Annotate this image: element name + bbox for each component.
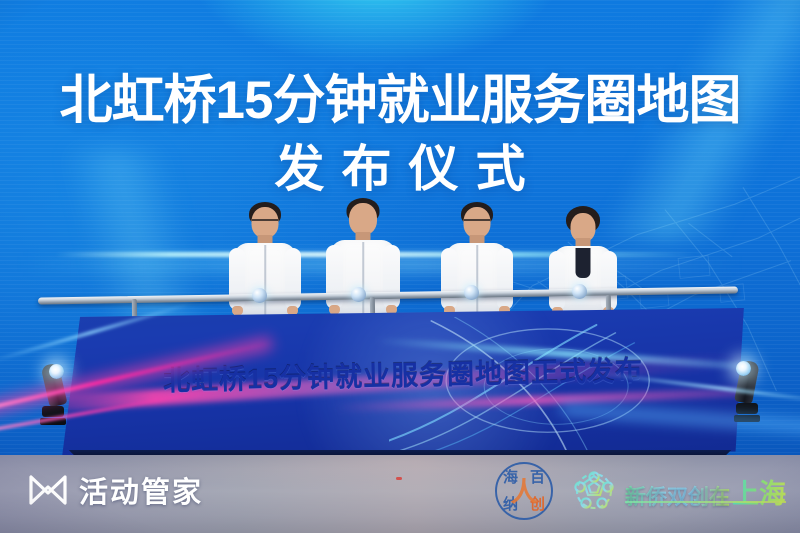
touch-orb[interactable]	[572, 284, 587, 299]
podium-assembly: 北虹桥15分钟就业服务圈地图正式发布	[0, 300, 800, 470]
floor-marker	[396, 477, 402, 480]
brand-logo-left: 活动管家	[28, 468, 203, 512]
podium-face: 北虹桥15分钟就业服务圈地图正式发布	[58, 308, 748, 456]
event-photo: 北虹桥15分钟就业服务圈地图 发布仪式	[0, 0, 800, 533]
badge-underline	[625, 501, 786, 503]
bowtie-mark-icon	[28, 474, 68, 506]
glasses-icon	[252, 219, 278, 221]
brand-name-left: 活动管家	[79, 469, 203, 511]
seal-center-glyph: 人	[511, 470, 538, 509]
light-lens-icon	[736, 361, 751, 376]
circular-seal-icon: 海 百 纳 创 人	[495, 462, 553, 520]
knot-emblem-icon	[571, 468, 617, 514]
light-lens-icon	[49, 364, 64, 379]
brand-logos-right: 海 百 纳 创 人	[495, 460, 786, 522]
badge-text: 新侨双创在	[625, 481, 730, 511]
xinqiao-badge: 新侨双创在 上海	[571, 468, 786, 514]
badge-highlight: 上海	[732, 472, 786, 511]
touch-orb[interactable]	[464, 285, 479, 300]
glasses-icon	[464, 219, 490, 221]
